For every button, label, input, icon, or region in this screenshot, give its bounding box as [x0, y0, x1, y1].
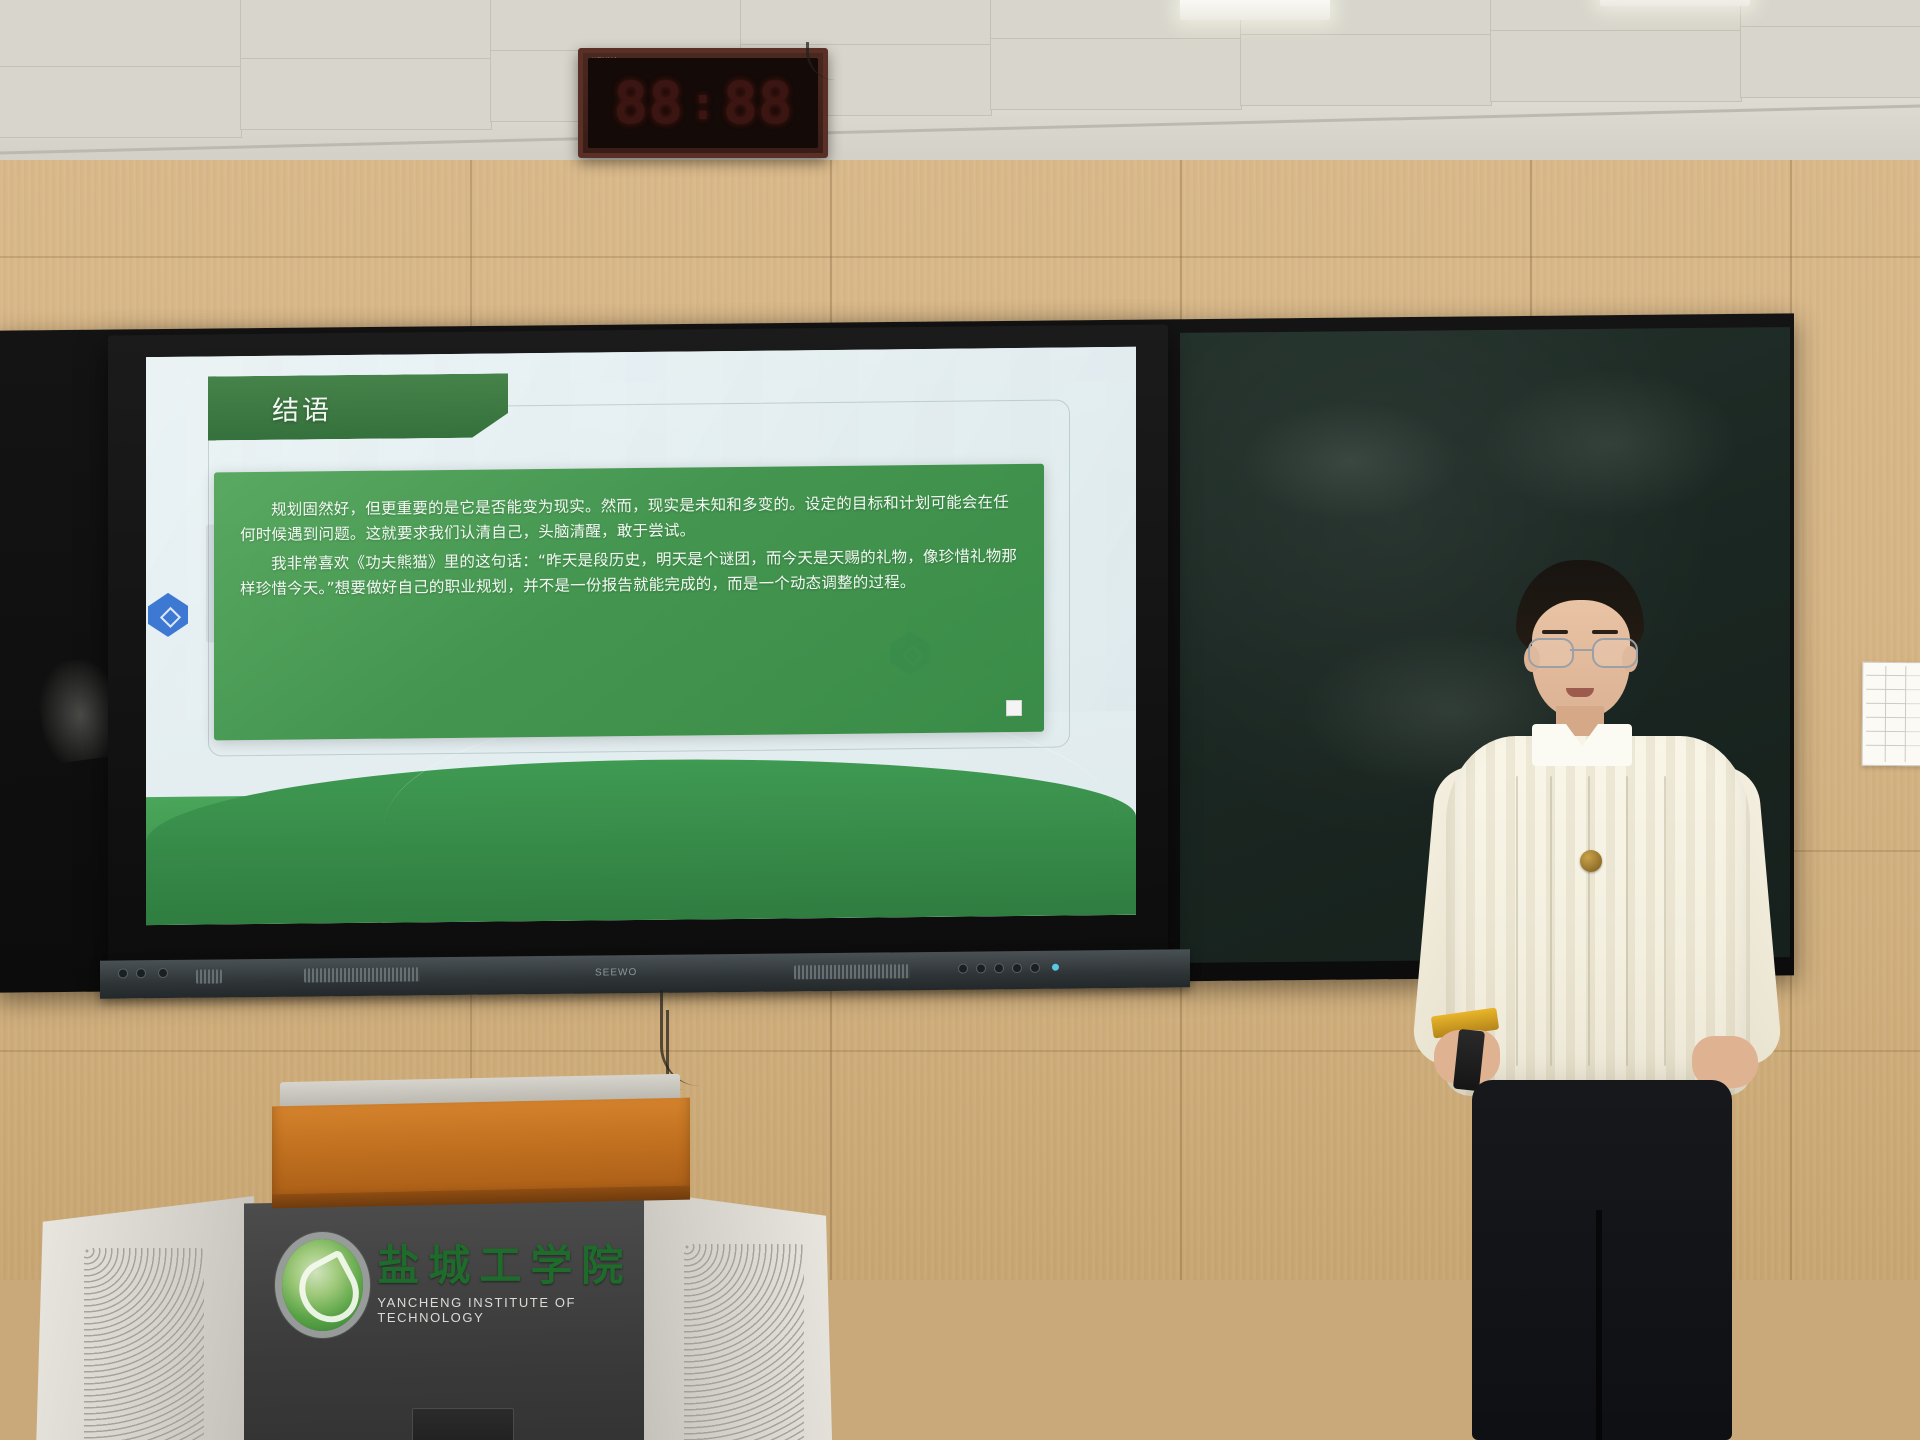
slide-paragraph-2: 我非常喜欢《功夫熊猫》里的这句话：“昨天是段历史，明天是个谜团，而今天是天赐的礼…	[240, 544, 1018, 602]
knit-cable	[1626, 776, 1628, 1066]
knit-cable	[1588, 776, 1590, 1066]
display-button[interactable]	[958, 964, 968, 974]
institution-logo: 盐城工学院 YANCHENG INSTITUTE OF TECHNOLOGY	[282, 1230, 652, 1340]
slide-paragraph-1: 规划固然好，但更重要的是它是否能变为现实。然而，现实是未知和多变的。设定的目标和…	[240, 490, 1018, 548]
knit-cable	[1516, 776, 1518, 1066]
clock-separator: :	[689, 80, 717, 126]
clock-minutes: 88	[723, 74, 793, 132]
display-screen[interactable]: 结语 规划固然好，但更重要的是它是否能变为现实。然而，现实是未知和多变的。设定的…	[146, 347, 1136, 925]
lectern-control-panel[interactable]	[412, 1408, 514, 1440]
slide-title: 结语	[272, 388, 332, 428]
classroom-scene: KEHUA 88 : 88	[0, 0, 1920, 1440]
slide-marker-square	[1006, 700, 1022, 716]
institution-seal-icon	[282, 1239, 363, 1331]
ceiling	[0, 0, 1920, 168]
ceiling-light	[1600, 0, 1750, 6]
diamond-inner-icon	[159, 606, 180, 627]
display-port[interactable]	[118, 968, 128, 978]
clock-display: 88 : 88	[588, 58, 818, 148]
display-button[interactable]	[1012, 963, 1022, 973]
glasses-bridge	[1570, 649, 1592, 651]
knit-cable	[1664, 776, 1666, 1066]
speaker-vent	[196, 969, 222, 983]
wall-digital-clock: KEHUA 88 : 88	[578, 48, 828, 158]
lectern-speaker-grille	[84, 1248, 204, 1440]
institution-name-cn: 盐城工学院	[377, 1245, 652, 1287]
lectern-speaker-grille	[684, 1244, 804, 1440]
display-button[interactable]	[1030, 963, 1040, 973]
display-port[interactable]	[158, 968, 168, 978]
trouser-seam	[1596, 1210, 1602, 1440]
presentation-slide: 结语 规划固然好，但更重要的是它是否能变为现实。然而，现实是未知和多变的。设定的…	[146, 347, 1136, 925]
interactive-display[interactable]: 结语 规划固然好，但更重要的是它是否能变为现实。然而，现实是未知和多变的。设定的…	[108, 324, 1168, 965]
ceiling-light	[1180, 0, 1330, 20]
glasses-icon	[1528, 638, 1636, 664]
glasses-lens	[1528, 638, 1574, 668]
duty-roster-sheet	[1862, 662, 1920, 766]
presenter-eyebrow	[1592, 630, 1618, 634]
speaker-vent	[304, 967, 420, 982]
slide-content-card: 规划固然好，但更重要的是它是否能变为现实。然而，现实是未知和多变的。设定的目标和…	[214, 464, 1044, 741]
lectern: 盐城工学院 YANCHENG INSTITUTE OF TECHNOLOGY	[34, 1078, 834, 1440]
presenter-trousers	[1472, 1080, 1732, 1440]
seal-ring-text	[274, 1231, 371, 1339]
glasses-lens	[1592, 638, 1638, 668]
display-brand-label: SEEWO	[595, 967, 637, 978]
slide-title-banner: 结语	[208, 373, 508, 440]
presenter-eyebrow	[1542, 630, 1568, 634]
display-port[interactable]	[136, 968, 146, 978]
lapel-pin-icon	[1580, 850, 1602, 872]
display-button[interactable]	[994, 963, 1004, 973]
power-indicator	[1052, 964, 1059, 971]
presenter	[1390, 560, 1820, 1440]
institution-name-en: YANCHENG INSTITUTE OF TECHNOLOGY	[377, 1295, 652, 1325]
speaker-vent	[794, 964, 910, 979]
display-button[interactable]	[976, 963, 986, 973]
knit-cable	[1550, 776, 1552, 1066]
clock-hours: 88	[613, 74, 683, 132]
